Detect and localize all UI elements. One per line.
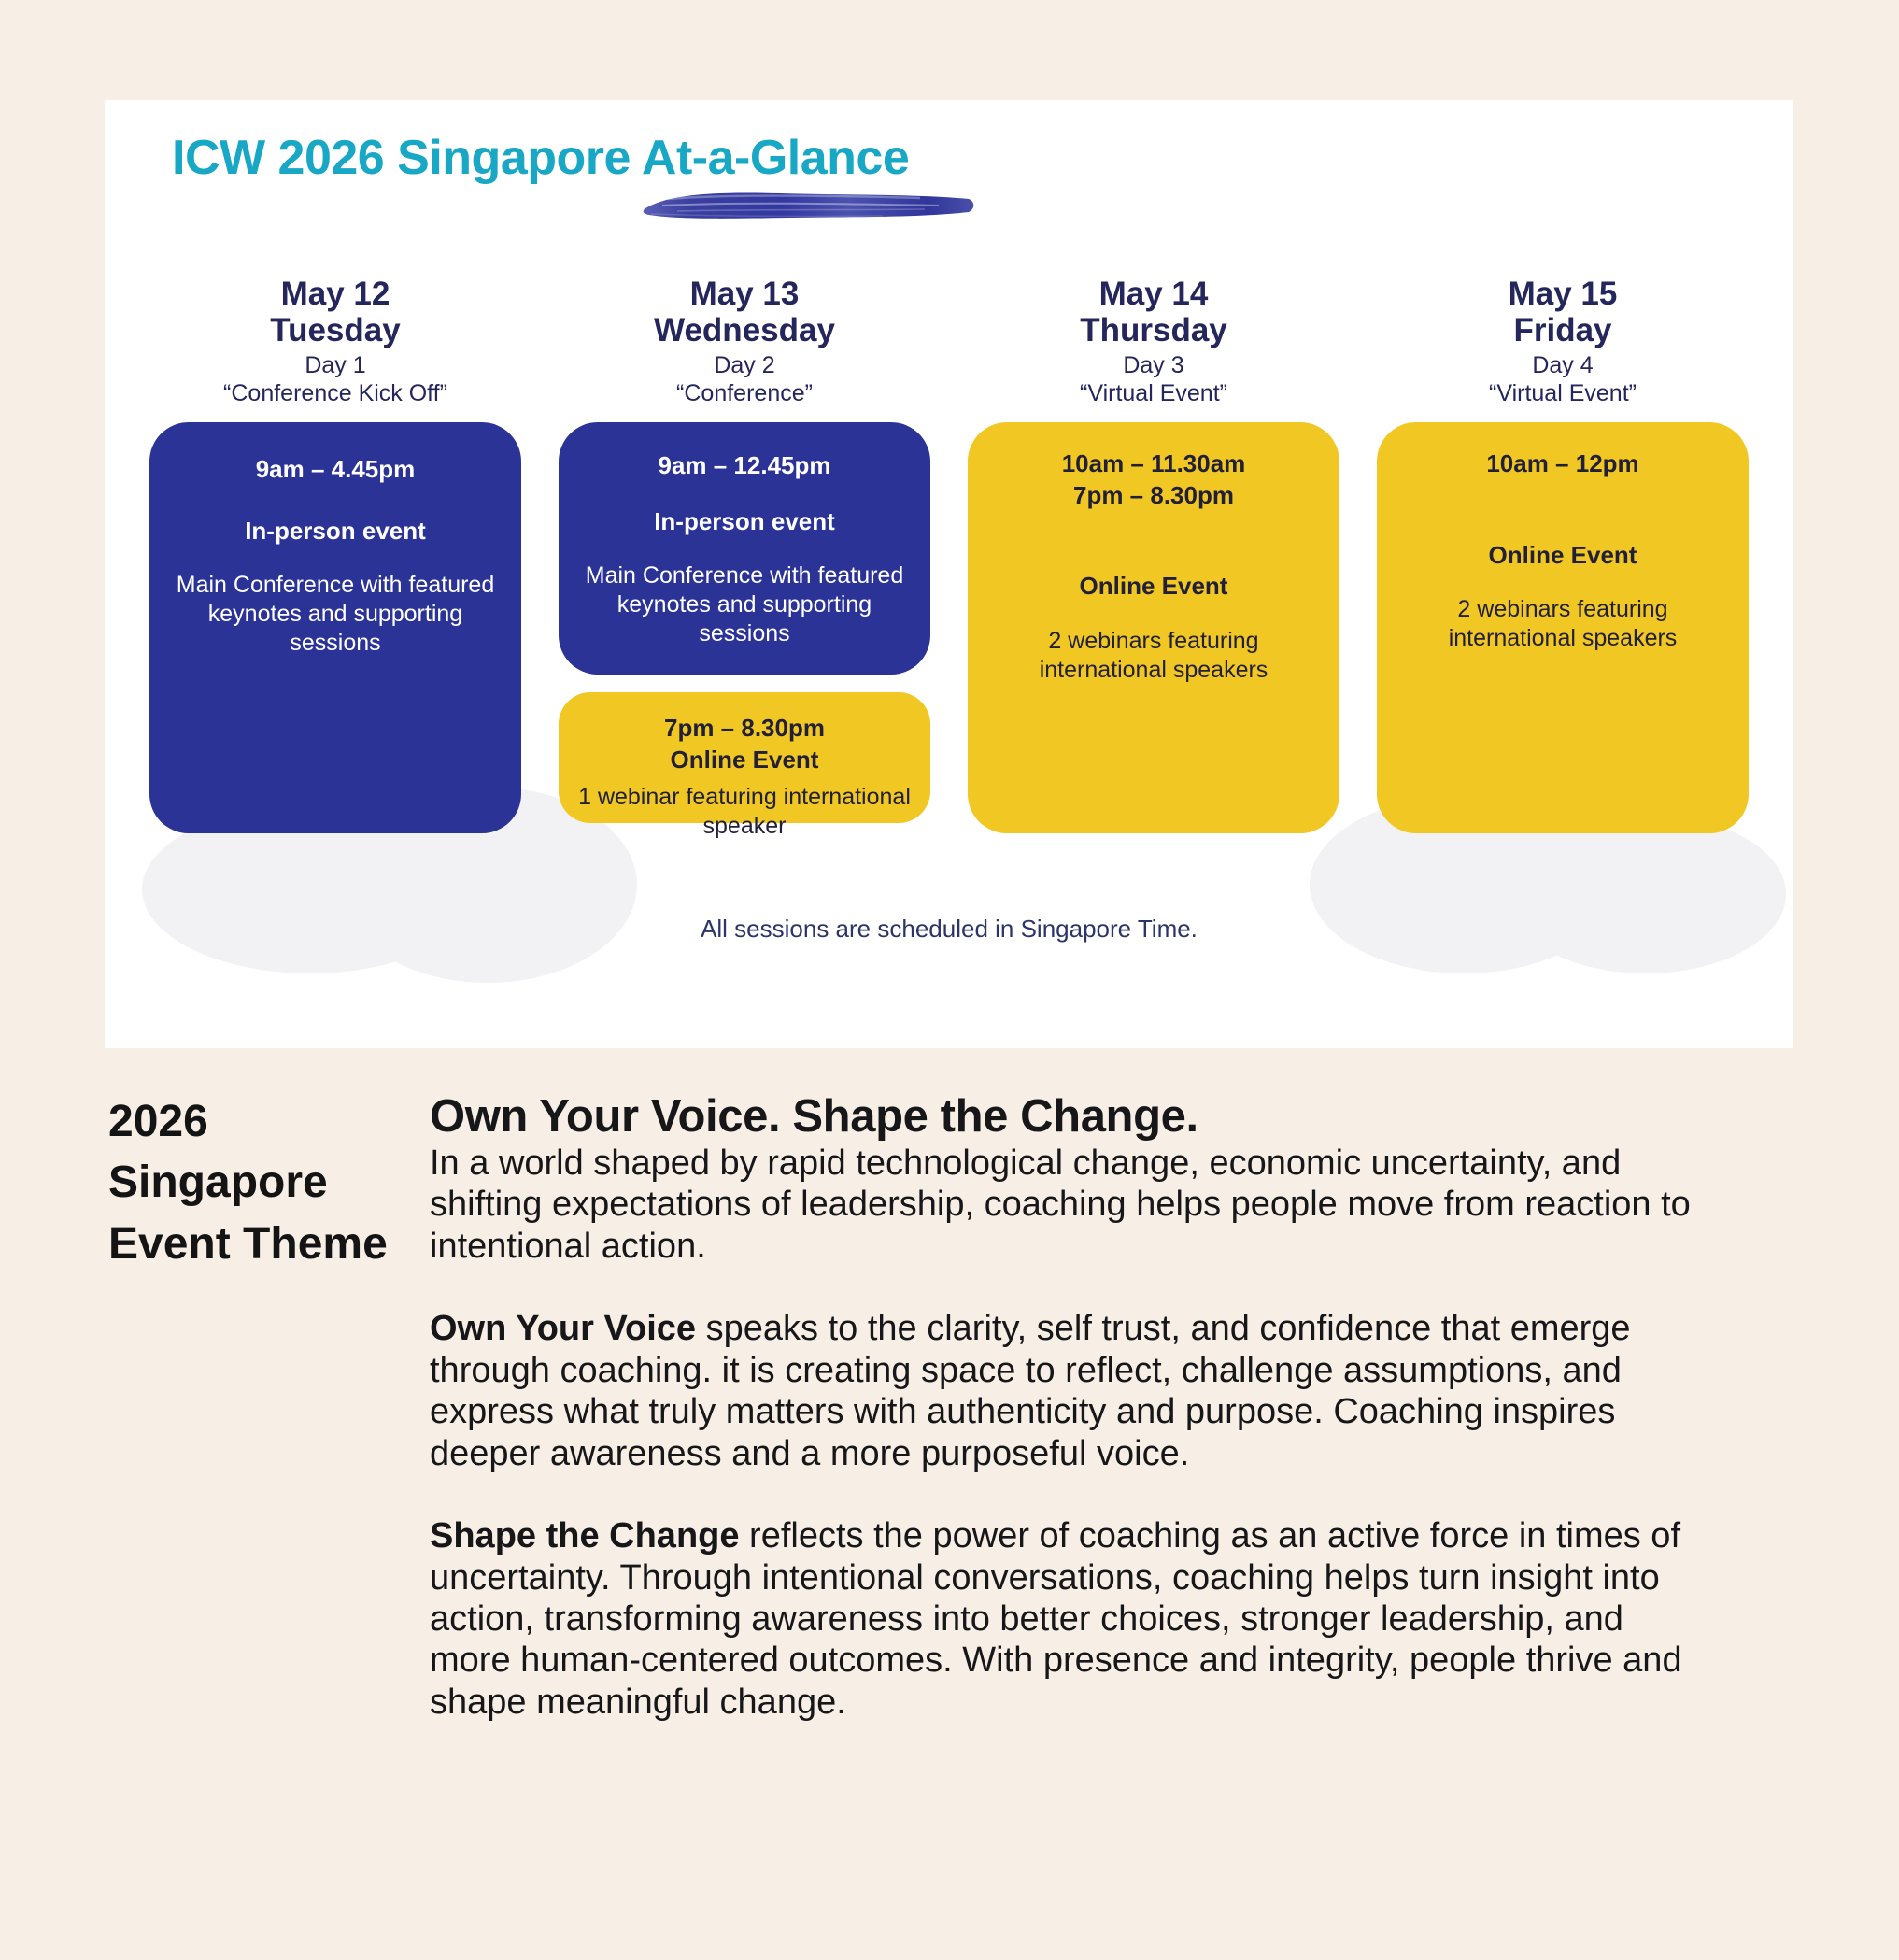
- theme-body: Own Your Voice. Shape the Change. In a w…: [430, 1091, 1756, 1723]
- theme-label-line-2: Singapore: [108, 1152, 430, 1213]
- watermark-blob: [1506, 815, 1786, 973]
- day-date: May 15: [1377, 276, 1749, 312]
- day-columns: May 12 Tuesday Day 1 “Conference Kick Of…: [131, 276, 1767, 833]
- day-tag: “Virtual Event”: [1377, 380, 1749, 408]
- brush-stroke-underline: [640, 186, 978, 225]
- event-description: 2 webinars featuring international speak…: [985, 627, 1323, 685]
- event-time-line-1: 10am – 11.30am: [985, 448, 1323, 479]
- theme-label-line-3: Event Theme: [108, 1214, 430, 1274]
- day-column-3: May 14 Thursday Day 3 “Virtual Event” 10…: [949, 276, 1358, 833]
- day-date: May 14: [968, 276, 1339, 312]
- day-header-4: May 15 Friday Day 4 “Virtual Event”: [1377, 276, 1749, 407]
- theme-label-line-1: 2026: [108, 1091, 430, 1152]
- day-number: Day 4: [1377, 352, 1749, 380]
- event-time: 7pm – 8.30pm: [575, 713, 914, 744]
- event-card-day3-online[interactable]: 10am – 11.30am 7pm – 8.30pm Online Event…: [968, 422, 1339, 833]
- event-type: In-person event: [575, 506, 914, 538]
- schedule-panel: ICW 2026 Singapore At-a-Glance May 12 Tu…: [105, 100, 1793, 1048]
- theme-paragraph-shape-the-change: Shape the Change reflects the power of c…: [430, 1515, 1700, 1723]
- event-time-line-2: 7pm – 8.30pm: [985, 480, 1323, 511]
- day-number: Day 2: [559, 352, 930, 380]
- day-tag: “Conference”: [559, 380, 930, 408]
- day-header-2: May 13 Wednesday Day 2 “Conference”: [559, 276, 930, 407]
- page-title: ICW 2026 Singapore At-a-Glance: [172, 130, 909, 186]
- event-description: Main Conference with featured keynotes a…: [166, 571, 504, 658]
- theme-intro-paragraph: In a world shaped by rapid technological…: [430, 1143, 1700, 1267]
- day-number: Day 1: [149, 352, 521, 380]
- day-number: Day 3: [968, 352, 1339, 380]
- theme-paragraph-lead: Shape the Change: [430, 1516, 740, 1555]
- day-header-1: May 12 Tuesday Day 1 “Conference Kick Of…: [149, 276, 521, 407]
- event-type: Online Event: [575, 745, 914, 776]
- day-weekday: Thursday: [968, 312, 1339, 348]
- event-description: 2 webinars featuring international speak…: [1394, 595, 1732, 653]
- theme-label: 2026 Singapore Event Theme: [0, 1091, 430, 1723]
- day-tag: “Virtual Event”: [968, 380, 1339, 408]
- day-weekday: Wednesday: [559, 312, 930, 348]
- event-time: 10am – 12pm: [1394, 448, 1732, 479]
- day-column-1: May 12 Tuesday Day 1 “Conference Kick Of…: [131, 276, 540, 833]
- theme-paragraph-lead: Own Your Voice: [430, 1309, 696, 1348]
- event-card-day2-online[interactable]: 7pm – 8.30pm Online Event 1 webinar feat…: [559, 692, 930, 823]
- day-column-4: May 15 Friday Day 4 “Virtual Event” 10am…: [1358, 276, 1767, 833]
- day-weekday: Friday: [1377, 312, 1749, 348]
- event-time: 9am – 12.45pm: [575, 450, 914, 481]
- day-tag: “Conference Kick Off”: [149, 380, 521, 408]
- event-description: 1 webinar featuring international speake…: [575, 783, 914, 841]
- day-weekday: Tuesday: [149, 312, 521, 348]
- event-type: In-person event: [166, 516, 504, 547]
- event-description: Main Conference with featured keynotes a…: [575, 561, 914, 648]
- event-type: Online Event: [1394, 540, 1732, 572]
- event-card-day1-main[interactable]: 9am – 4.45pm In-person event Main Confer…: [149, 422, 521, 833]
- day-date: May 13: [559, 276, 930, 312]
- day-column-2: May 13 Wednesday Day 2 “Conference” 9am …: [540, 276, 949, 833]
- theme-section: 2026 Singapore Event Theme Own Your Voic…: [0, 1091, 1899, 1723]
- theme-paragraph-own-your-voice: Own Your Voice speaks to the clarity, se…: [430, 1308, 1700, 1474]
- event-card-day2-main[interactable]: 9am – 12.45pm In-person event Main Confe…: [559, 422, 930, 675]
- day-header-3: May 14 Thursday Day 3 “Virtual Event”: [968, 276, 1339, 407]
- day-date: May 12: [149, 276, 521, 312]
- timezone-note: All sessions are scheduled in Singapore …: [105, 915, 1793, 944]
- event-type: Online Event: [985, 571, 1323, 603]
- event-card-day4-online[interactable]: 10am – 12pm Online Event 2 webinars feat…: [1377, 422, 1749, 833]
- theme-headline: Own Your Voice. Shape the Change.: [430, 1091, 1700, 1143]
- event-time: 9am – 4.45pm: [166, 454, 504, 485]
